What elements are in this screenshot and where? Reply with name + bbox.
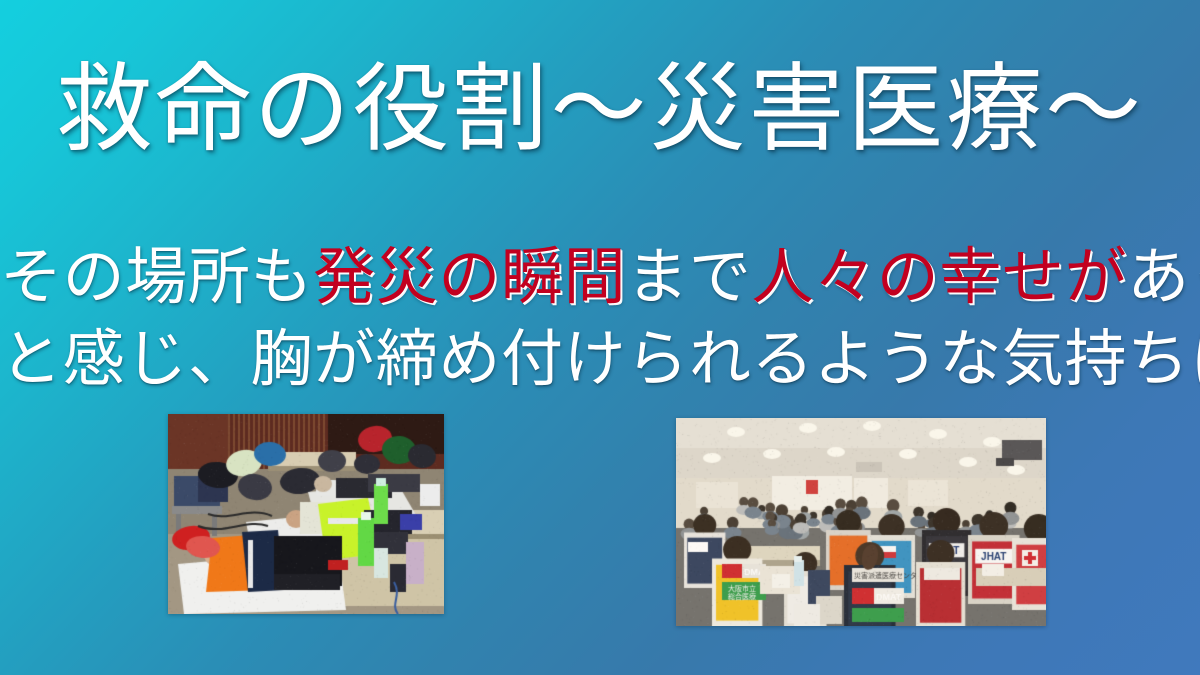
photo-rescue-workers-resting (168, 414, 444, 614)
subtitle-line-1: その場所も発災の瞬間まで人々の幸せがあった (0, 238, 1200, 320)
photo-rescue-workers-resting-image (168, 414, 444, 614)
slide-title-text: 救命の役割〜災害医療〜 (56, 58, 1144, 162)
photo-dmat-briefing-room-image (676, 418, 1046, 626)
photo-dmat-briefing-room (676, 418, 1046, 626)
subtitle-line-2: と感じ、胸が締め付けられるような気持ちに。 (0, 320, 1200, 402)
slide-title: 救命の役割〜災害医療〜 (0, 58, 1200, 162)
subtitle-segment-plain: と感じ、胸が締め付けられるような気持ちに。 (0, 326, 1200, 394)
subtitle-segment-plain: まで (626, 244, 751, 312)
slide-subtitle: その場所も発災の瞬間まで人々の幸せがあった と感じ、胸が締め付けられるような気持… (0, 238, 1200, 402)
subtitle-segment-plain: あった (1127, 244, 1200, 312)
slide-canvas: 救命の役割〜災害医療〜 その場所も発災の瞬間まで人々の幸せがあった と感じ、胸が… (0, 0, 1200, 675)
subtitle-segment-plain: その場所も (0, 244, 313, 312)
subtitle-segment-emphasis: 人々の幸せが (751, 244, 1127, 312)
subtitle-segment-emphasis: 発災の瞬間 (313, 244, 626, 312)
